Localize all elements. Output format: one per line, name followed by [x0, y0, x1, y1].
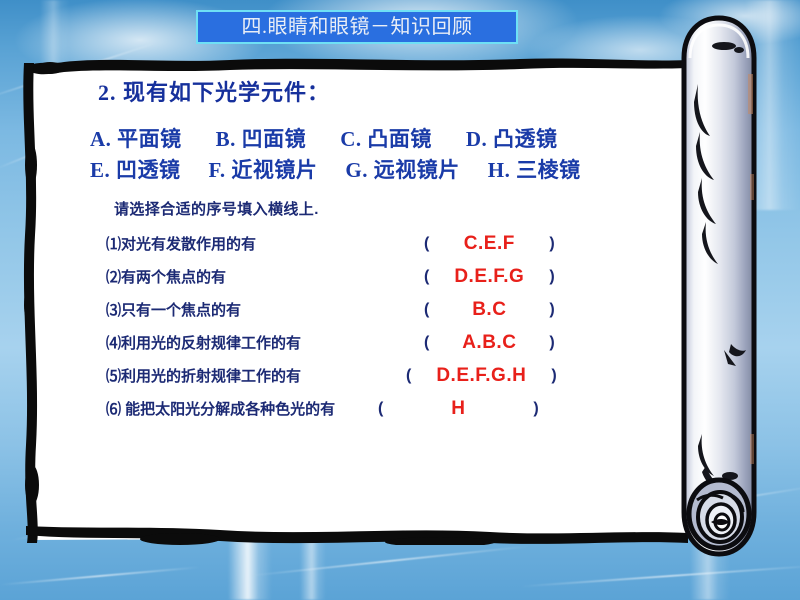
paper-sheet-container: 2. 现有如下光学元件： A. 平面镜 B. 凹面镜 C. 凸面镜 D. 凸透镜…: [20, 55, 692, 545]
option-e: E. 凹透镜: [90, 154, 181, 184]
question-text: ⑵有两个焦点的有: [106, 266, 226, 287]
close-paren: ): [549, 334, 554, 352]
question-text: ⑷利用光的反射规律工作的有: [106, 332, 301, 353]
close-paren: ): [533, 400, 538, 418]
close-paren: ): [549, 301, 554, 319]
answer-value: D.E.F.G: [429, 266, 549, 288]
close-paren: ): [549, 268, 554, 286]
answer-value: B.C: [429, 299, 549, 321]
instruction-text: 请选择合适的序号填入横线上.: [114, 198, 319, 219]
question-row: ⑷利用光的反射规律工作的有 ( A.B.C ): [106, 326, 666, 359]
answer-value: C.E.F: [429, 233, 549, 255]
question-list: ⑴对光有发散作用的有 ( C.E.F ) ⑵有两个焦点的有 ( D.E.F.G …: [106, 227, 666, 425]
question-text: ⑴对光有发散作用的有: [106, 233, 256, 254]
answer-group: ( A.B.C ): [424, 332, 555, 354]
question-row: ⑵有两个焦点的有 ( D.E.F.G ): [106, 260, 666, 293]
option-d: D. 凸透镜: [466, 123, 558, 153]
answer-group: ( H ): [378, 398, 539, 420]
answer-value: H: [383, 398, 533, 420]
answer-group: ( D.E.F.G ): [424, 266, 555, 288]
section-headline: 2. 现有如下光学元件：: [98, 75, 330, 107]
answer-value: D.E.F.G.H: [411, 365, 551, 387]
question-text: ⑶只有一个焦点的有: [106, 299, 241, 320]
question-text: ⑹ 能把太阳光分解成各种色光的有: [106, 398, 335, 419]
question-row: ⑴对光有发散作用的有 ( C.E.F ): [106, 227, 666, 260]
paper-content: 2. 现有如下光学元件： A. 平面镜 B. 凹面镜 C. 凸面镜 D. 凸透镜…: [28, 61, 684, 537]
optics-options-row-2: E. 凹透镜 F. 近视镜片 G. 远视镜片 H. 三棱镜: [28, 154, 684, 184]
answer-group: ( C.E.F ): [424, 233, 555, 255]
optics-options-row-1: A. 平面镜 B. 凹面镜 C. 凸面镜 D. 凸透镜: [28, 123, 684, 153]
answer-group: ( D.E.F.G.H ): [406, 365, 557, 387]
question-row: ⑸利用光的折射规律工作的有 ( D.E.F.G.H ): [106, 359, 666, 392]
option-f: F. 近视镜片: [209, 154, 318, 184]
option-h: H. 三棱镜: [488, 154, 581, 184]
option-b: B. 凹面镜: [216, 123, 307, 153]
answer-value: A.B.C: [429, 332, 549, 354]
option-a: A. 平面镜: [90, 123, 182, 153]
question-row: ⑹ 能把太阳光分解成各种色光的有 ( H ): [106, 392, 666, 425]
answer-group: ( B.C ): [424, 299, 555, 321]
question-text: ⑸利用光的折射规律工作的有: [106, 365, 301, 386]
page-title: 四.眼睛和眼镜－知识回顾: [242, 17, 473, 37]
option-g: G. 远视镜片: [345, 154, 459, 184]
close-paren: ): [551, 367, 556, 385]
question-row: ⑶只有一个焦点的有 ( B.C ): [106, 293, 666, 326]
rolled-scroll-decoration: [676, 14, 762, 574]
option-c: C. 凸面镜: [340, 123, 432, 153]
close-paren: ): [549, 235, 554, 253]
slide-title-banner: 四.眼睛和眼镜－知识回顾: [196, 10, 518, 44]
slide-canvas: 四.眼睛和眼镜－知识回顾 2. 现有如下光学元件： A. 平面镜: [0, 0, 800, 600]
